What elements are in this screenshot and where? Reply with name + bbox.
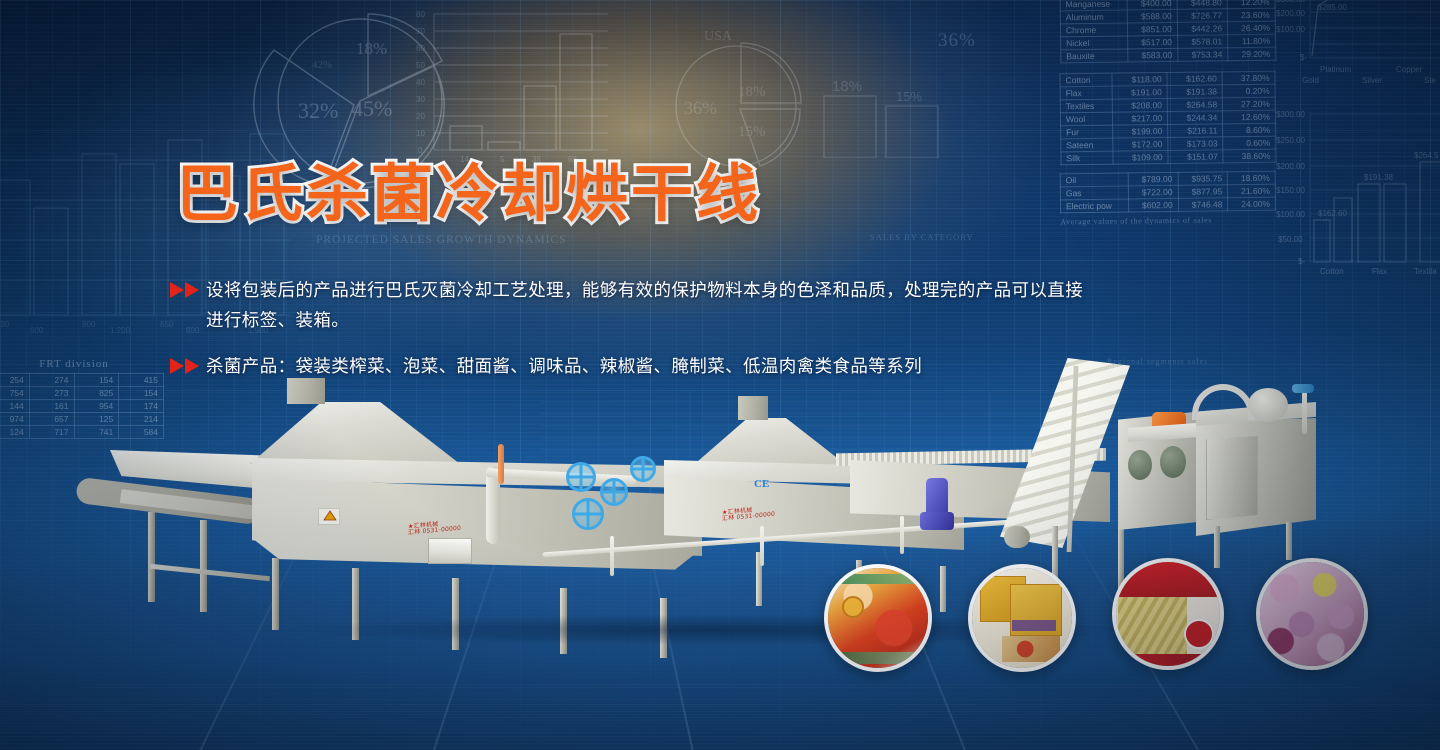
feature-bullet-list: 设将包装后的产品进行巴氏灭菌冷却工艺处理，能够有效的保护物料本身的色泽和品质，处… [170, 276, 1090, 398]
handwheel-4[interactable] [630, 456, 656, 482]
handwheel-3[interactable] [572, 498, 604, 530]
tunnel1-access-door [428, 538, 472, 564]
tunnel1-hood [250, 402, 460, 464]
handwheel-1[interactable] [566, 462, 596, 492]
double-triangle-icon [170, 276, 206, 304]
tunnel1-warning-label [318, 508, 340, 525]
dryer-window-2 [1160, 446, 1186, 478]
dryer-valve-handle[interactable] [1292, 384, 1314, 393]
bullet-text-1: 设将包装后的产品进行巴氏灭菌冷却工艺处理，能够有效的保护物料本身的色泽和品质，处… [206, 276, 1090, 336]
infeed-cross-brace [150, 564, 270, 582]
dryer-leg-2 [1286, 522, 1292, 560]
bullet-text-2: 杀菌产品：袋装类榨菜、泡菜、甜面酱、调味品、辣椒酱、腌制菜、低温肉禽类食品等系列 [206, 352, 922, 382]
dryer-window-1 [1128, 450, 1152, 480]
guard-rail-post-2 [760, 526, 764, 566]
dryer-valve-stem [1302, 390, 1307, 434]
incline-conveyor-tail-drum [1004, 526, 1030, 548]
list-item: 设将包装后的产品进行巴氏灭菌冷却工艺处理，能够有效的保护物料本身的色泽和品质，处… [170, 276, 1090, 336]
warning-triangle-icon [319, 510, 341, 522]
double-triangle-icon [170, 352, 206, 380]
list-item: 杀菌产品：袋装类榨菜、泡菜、甜面酱、调味品、辣椒酱、腌制菜、低温肉禽类食品等系列 [170, 352, 1090, 382]
guard-rail-post-3 [900, 516, 904, 554]
dryer-duct-arc [1192, 384, 1254, 420]
pipe-riser [498, 444, 504, 484]
guard-rail-post-1 [610, 536, 614, 576]
tunnel2-hood [690, 418, 850, 468]
ce-mark: CE [754, 478, 769, 490]
tunnel2-leg-3 [940, 566, 946, 612]
handwheel-2[interactable] [600, 478, 628, 506]
banner-stage: 720600 9001,200 650800 9601,500 FRT divi… [0, 0, 1440, 750]
dryer-fan-housing [1248, 388, 1288, 422]
dryer-door-panel [1206, 436, 1258, 520]
tunnel2-chimney [738, 396, 768, 420]
product-circle-wuxiang-zhacai[interactable] [1112, 558, 1224, 670]
product-circle-laotan-suancai[interactable] [968, 564, 1076, 672]
infeed-leg-1 [148, 512, 155, 602]
blue-motor-pump-head [920, 512, 954, 530]
infeed-leg-2 [200, 520, 207, 612]
product-circle-pickle-cubes[interactable] [1256, 558, 1368, 670]
product-circle-spicy-packet[interactable] [824, 564, 932, 672]
page-title: 巴氏杀菌冷却烘干线 [176, 163, 761, 225]
